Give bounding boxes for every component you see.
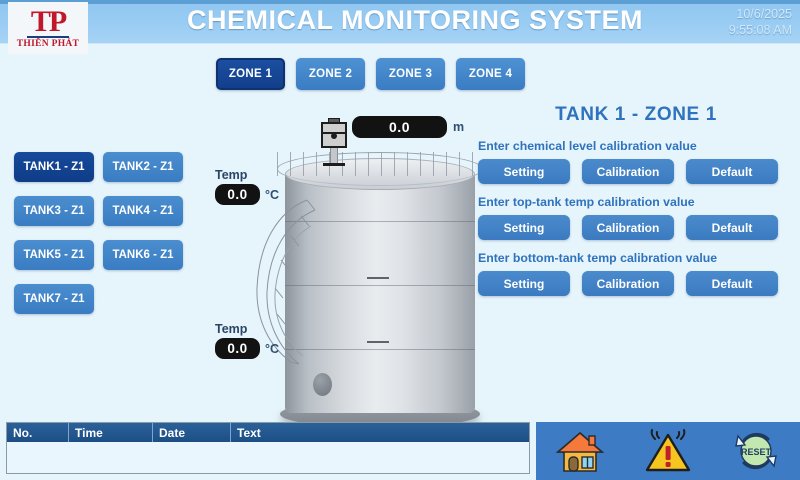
level-setting-button[interactable]: Setting	[478, 159, 570, 184]
alarm-table-body	[7, 442, 529, 473]
calibration-group-bottom-temp: Enter bottom-tank temp calibration value…	[478, 251, 794, 296]
calibration-group-level: Enter chemical level calibration value S…	[478, 139, 794, 184]
tank-railing	[277, 152, 483, 186]
tank-row: TANK5 - Z1 TANK6 - Z1	[14, 240, 204, 270]
current-date: 10/6/2025	[684, 6, 792, 22]
current-time: 9:55:08 AM	[684, 22, 792, 38]
tab-zone-4[interactable]: ZONE 4	[456, 58, 525, 90]
bottom-temp-default-button[interactable]: Default	[686, 271, 778, 296]
top-temp-unit: °C	[265, 188, 279, 202]
top-temp-calibration-button[interactable]: Calibration	[582, 215, 674, 240]
selected-tank-title: TANK 1 - ZONE 1	[478, 104, 794, 126]
column-header-date: Date	[153, 423, 231, 442]
top-temp-label: Temp	[215, 168, 295, 182]
home-icon	[554, 427, 606, 475]
tank-selector-list: TANK1 - Z1 TANK2 - Z1 TANK3 - Z1 TANK4 -…	[14, 152, 204, 328]
page-title: CHEMICAL MONITORING SYSTEM	[160, 5, 670, 36]
alarm-warning-button[interactable]	[642, 427, 694, 475]
bottom-temp-setting-button[interactable]: Setting	[478, 271, 570, 296]
tank-row: TANK7 - Z1	[14, 284, 204, 314]
clock: 10/6/2025 9:55:08 AM	[684, 6, 792, 38]
tank-button-7[interactable]: TANK7 - Z1	[14, 284, 94, 314]
reset-icon: RESET	[730, 427, 782, 475]
tank-manhole-icon	[313, 373, 332, 396]
column-header-time: Time	[69, 423, 153, 442]
calibration-group-top-temp: Enter top-tank temp calibration value Se…	[478, 195, 794, 240]
level-calibration-button[interactable]: Calibration	[582, 159, 674, 184]
column-header-text: Text	[231, 423, 529, 442]
bottom-temp-unit: °C	[265, 342, 279, 356]
calibration-panel: TANK 1 - ZONE 1 Enter chemical level cal…	[478, 104, 794, 307]
bottom-temp-label: Temp	[215, 322, 295, 336]
tank-row: TANK1 - Z1 TANK2 - Z1	[14, 152, 204, 182]
tank-button-3[interactable]: TANK3 - Z1	[14, 196, 94, 226]
reset-button[interactable]: RESET	[730, 427, 782, 475]
alarm-warning-icon	[642, 427, 694, 475]
tank-button-5[interactable]: TANK5 - Z1	[14, 240, 94, 270]
logo-mark: TP	[31, 8, 65, 36]
zone-tabs: ZONE 1 ZONE 2 ZONE 3 ZONE 4	[216, 58, 525, 90]
tank-row: TANK3 - Z1 TANK4 - Z1	[14, 196, 204, 226]
level-value: 0.0	[352, 116, 447, 138]
top-temp-default-button[interactable]: Default	[686, 215, 778, 240]
tab-zone-3[interactable]: ZONE 3	[376, 58, 445, 90]
home-button[interactable]	[554, 427, 606, 475]
level-default-button[interactable]: Default	[686, 159, 778, 184]
calibration-label-bottom-temp: Enter bottom-tank temp calibration value	[478, 251, 794, 265]
bottom-temp-readout: Temp 0.0 °C	[215, 322, 295, 359]
tab-zone-1[interactable]: ZONE 1	[216, 58, 285, 90]
bottom-temp-calibration-button[interactable]: Calibration	[582, 271, 674, 296]
tank-button-4[interactable]: TANK4 - Z1	[103, 196, 183, 226]
level-sensor-icon	[321, 118, 347, 162]
alarm-log-table[interactable]: No. Time Date Text	[6, 422, 530, 474]
top-temp-readout: Temp 0.0 °C	[215, 168, 295, 205]
tank-button-1[interactable]: TANK1 - Z1	[14, 152, 94, 182]
app-header: TP THIÊN PHÁT CHEMICAL MONITORING SYSTEM…	[0, 0, 800, 44]
column-header-no: No.	[7, 423, 69, 442]
calibration-label-top-temp: Enter top-tank temp calibration value	[478, 195, 794, 209]
top-temp-setting-button[interactable]: Setting	[478, 215, 570, 240]
tank-button-2[interactable]: TANK2 - Z1	[103, 152, 183, 182]
level-readout: 0.0 m	[352, 116, 464, 138]
level-unit: m	[453, 120, 464, 134]
tab-zone-2[interactable]: ZONE 2	[296, 58, 365, 90]
company-logo: TP THIÊN PHÁT	[8, 2, 88, 54]
alarm-table-header: No. Time Date Text	[7, 423, 529, 442]
tank-graphic	[225, 118, 505, 418]
logo-company-name: THIÊN PHÁT	[17, 39, 79, 49]
top-temp-value: 0.0	[215, 184, 260, 205]
bottom-temp-value: 0.0	[215, 338, 260, 359]
reset-label: RESET	[741, 447, 772, 457]
bottom-icon-bar: RESET	[536, 422, 800, 480]
calibration-label-level: Enter chemical level calibration value	[478, 139, 794, 153]
tank-button-6[interactable]: TANK6 - Z1	[103, 240, 183, 270]
chemical-monitoring-screen: TP THIÊN PHÁT CHEMICAL MONITORING SYSTEM…	[0, 0, 800, 480]
